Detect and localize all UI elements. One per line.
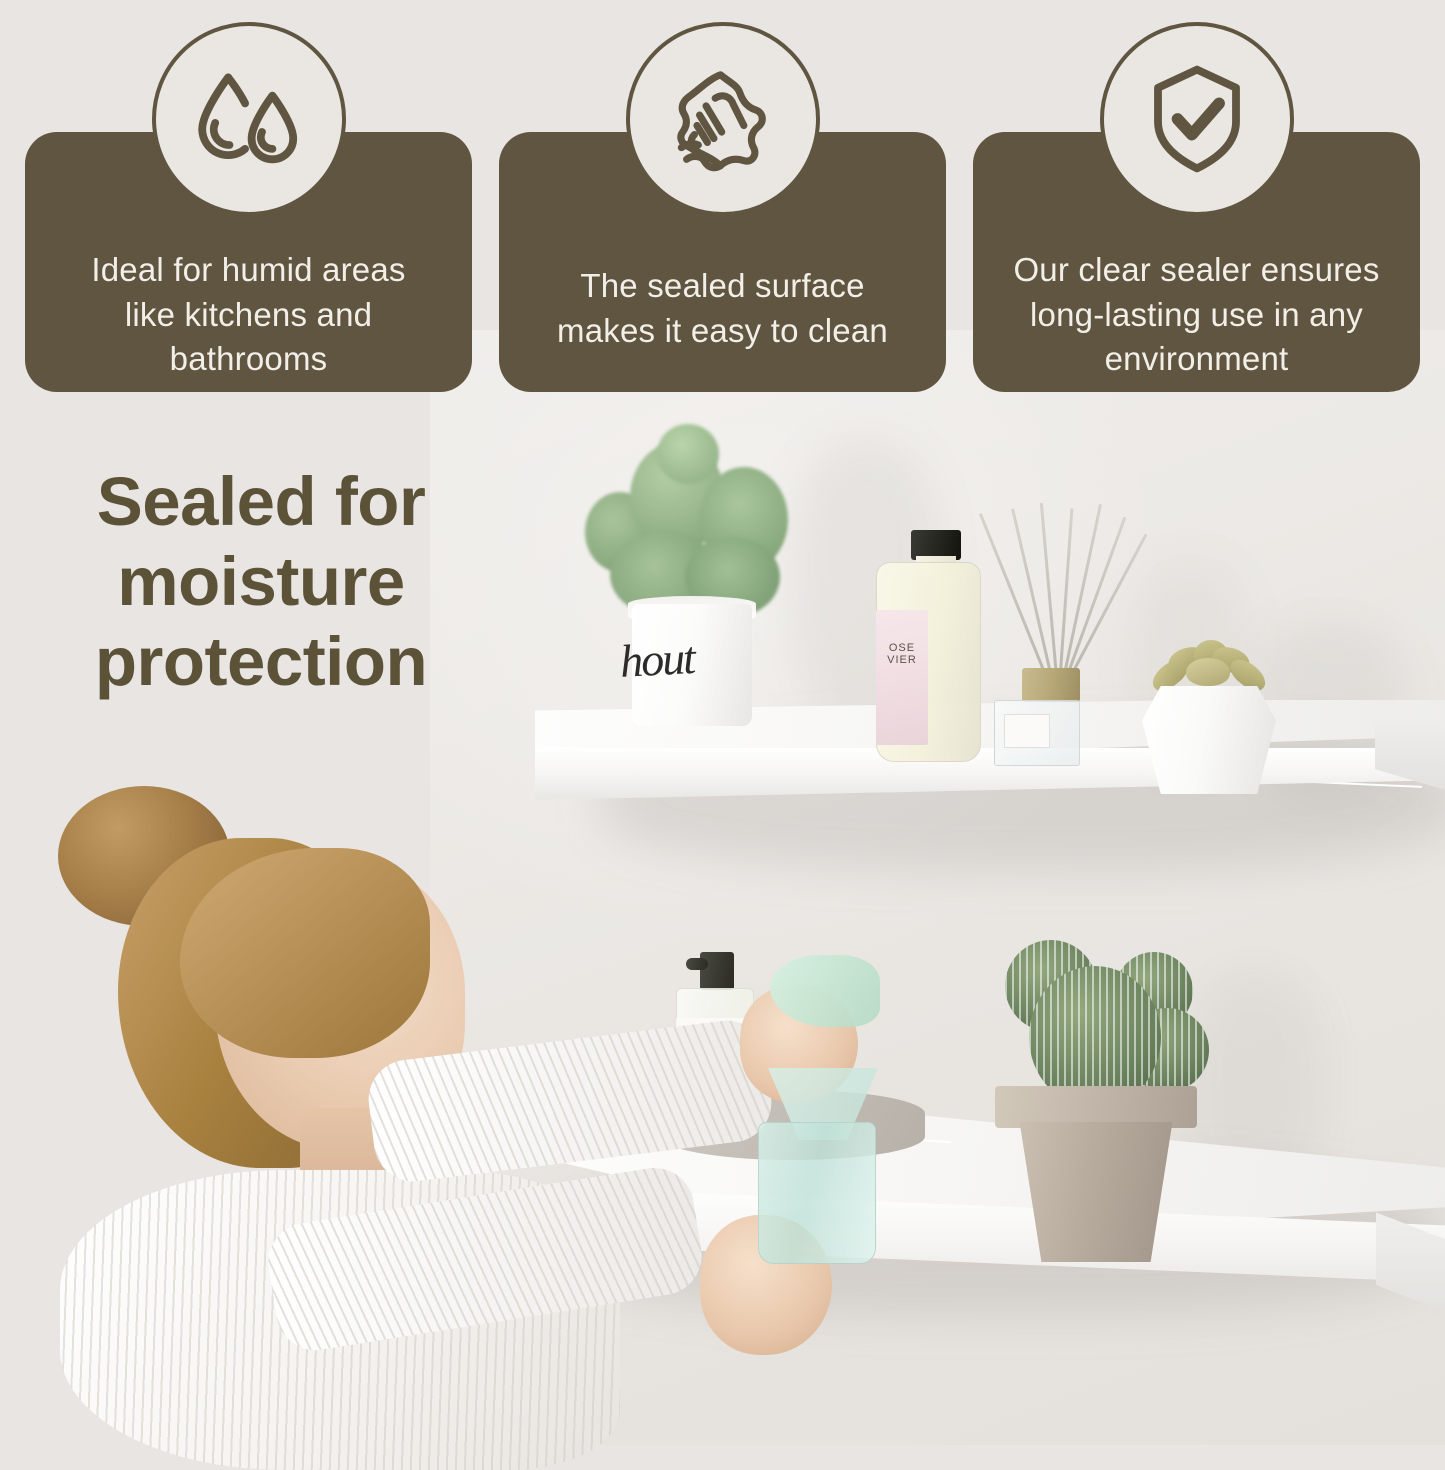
reed-diffuser-reeds: [1000, 500, 1110, 700]
hand-wash-label-line1: BONDI WASH: [676, 1026, 754, 1036]
fragrance-bottle-cap: [911, 530, 961, 560]
fragrance-bottle-neck: [916, 556, 956, 576]
fragrance-label-line1: OSE: [876, 642, 928, 654]
upper-shelf-highlight: [543, 746, 1422, 788]
cactus-pot: [1005, 1122, 1187, 1262]
soap-dispenser-pump-nozzle: [686, 958, 708, 970]
reed-diffuser-vessel: [994, 700, 1080, 766]
girl-lower-hand: [700, 1215, 832, 1355]
hair-bun: [58, 786, 230, 926]
hand-wash-label-line2: HAND WASH: [676, 1036, 754, 1046]
badge-label: Ideal for humid areas like kitchens and …: [41, 248, 456, 382]
lower-shelf-highlight: [532, 1112, 951, 1143]
plant-wall-shadow: [790, 440, 940, 730]
cactus-wall-shadow: [1185, 970, 1325, 1200]
badge-label: The sealed surface makes it easy to clea…: [515, 264, 930, 353]
page-headline: Sealed for moisture protection: [22, 462, 500, 702]
fragrance-bottle-label: OSE VIER: [876, 610, 928, 745]
hand-wiping-cloth-icon: [626, 22, 820, 216]
cactus-pot-rim: [995, 1086, 1197, 1128]
cactus-gravel: [1005, 1092, 1187, 1124]
reed-diffuser-label: [1004, 714, 1050, 748]
lower-shelf: [520, 1090, 1445, 1320]
greenery-pot-script-text: hout: [619, 629, 732, 688]
soap-dispenser-pump: [700, 952, 734, 990]
greenery-pot: [632, 604, 752, 726]
spray-bottle: [758, 1122, 876, 1264]
hand-wash-label: BONDI WASH HAND WASH: [676, 1018, 754, 1064]
greenery-pot-rim: [628, 596, 756, 624]
girl-shirt: [60, 1170, 620, 1470]
water-droplets-icon: [152, 22, 346, 216]
fragrance-label-line2: VIER: [876, 654, 928, 666]
girl-neck: [300, 1108, 420, 1218]
wall-background: [430, 330, 1445, 1445]
cactus-plant: [995, 930, 1210, 1120]
lower-shelf-wall-shadow: [560, 1165, 1440, 1315]
upper-shelf-surface: [535, 700, 1445, 758]
shield-check-icon: [1100, 22, 1294, 216]
feature-badge-long-lasting[interactable]: Our clear sealer ensures long-lasting us…: [973, 0, 1420, 400]
feature-badge-row: Ideal for humid areas like kitchens and …: [0, 0, 1445, 400]
fragrance-bottle: [876, 562, 981, 762]
greenery-foliage: [575, 432, 805, 632]
lower-shelf-front-edge: [520, 1186, 1445, 1296]
succulent-wall-shadow: [1255, 620, 1405, 800]
girl-upper-hand: [740, 985, 858, 1103]
hand-wash-dispenser: [676, 988, 754, 1100]
lower-shelf-surface: [520, 1090, 1445, 1240]
girl-lower-arm: [263, 1162, 708, 1356]
succulent-hexagon-pot: [1142, 686, 1276, 794]
feature-badge-easy-clean[interactable]: The sealed surface makes it easy to clea…: [499, 0, 946, 400]
upper-shelf-right-end: [1375, 710, 1445, 790]
spray-bottle-trigger: [770, 955, 880, 1027]
soap-tray: [660, 1090, 925, 1160]
feature-badge-humid-areas[interactable]: Ideal for humid areas like kitchens and …: [25, 0, 472, 400]
girl-upper-arm: [364, 1016, 776, 1186]
girl-head: [215, 860, 465, 1150]
badge-label: Our clear sealer ensures long-lasting us…: [989, 248, 1404, 382]
succulent-leaves: [1150, 640, 1270, 700]
reed-wall-shadow: [1130, 560, 1250, 770]
reed-diffuser-collar: [1022, 668, 1080, 702]
upper-shelf: [535, 700, 1445, 860]
lower-shelf-right-end: [1376, 1208, 1445, 1318]
upper-shelf-front-edge: [535, 748, 1445, 800]
spray-bottle-shoulder: [768, 1060, 878, 1140]
upper-shelf-wall-shadow: [600, 730, 1445, 870]
hair-front-sweep: [180, 848, 430, 1058]
hair-back-mass: [118, 838, 383, 1168]
